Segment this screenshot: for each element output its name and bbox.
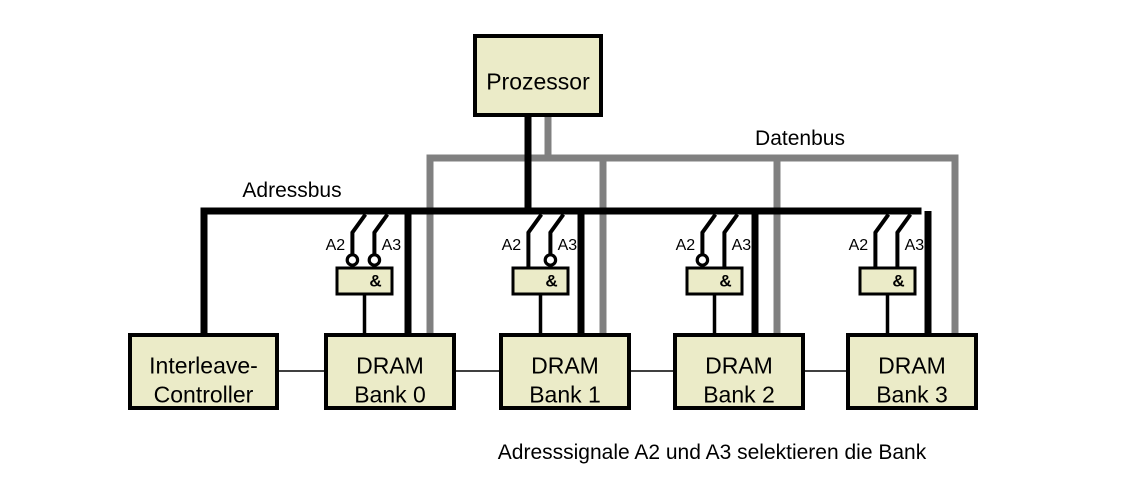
diagram-caption: Adresssignale A2 und A3 selektieren die … [498,441,927,464]
bank-select-logic-0: A2A3& [326,215,402,338]
bank-select-logic-1: A2A3& [502,215,578,338]
switch-a3-bank-3[interactable]: A3 [897,215,924,269]
switch-a2-bank-2[interactable]: A2 [676,215,716,266]
switch-a2-bank-0-lever [352,215,365,258]
dram-bank-box-2-label-line1: DRAM [705,353,773,379]
bank-layer: A2A3&A2A3&A2A3&A2A3& [326,215,925,338]
switch-a3-bank-0-terminal [369,255,379,265]
switch-a2-bank-2-lever [702,215,715,258]
processor-box-label: Prozessor [486,69,590,95]
switch-a3-bank-2-label: A3 [732,237,752,254]
bank-select-logic-2: A2A3& [676,215,752,338]
switch-a2-bank-0[interactable]: A2 [326,215,366,266]
interleave-controller-box: Interleave-Controller [130,335,277,408]
dram-bank-box-2: DRAMBank 2 [675,335,803,408]
interleave-controller-box-label-line1: Interleave- [149,353,258,379]
and-gate-bank-1 [513,268,568,294]
dram-bank-box-1-label-line1: DRAM [531,353,599,379]
dram-bank-box-1-label-line2: Bank 1 [529,382,601,408]
switch-a3-bank-2[interactable]: A3 [724,215,751,269]
switch-a2-bank-2-terminal [697,255,707,265]
dram-bank-box-2-label-line2: Bank 2 [703,382,775,408]
switch-a2-bank-2-label: A2 [676,237,696,254]
diagram-canvas: A2A3&A2A3&A2A3&A2A3& ProzessorInterleave… [0,0,1146,500]
and-gate-symbol-bank-3: & [892,272,904,291]
and-gate-bank-2 [687,268,742,294]
and-gate-symbol-bank-0: & [369,272,381,291]
switch-a2-bank-0-label: A2 [326,237,346,254]
switch-a2-bank-0-terminal [347,255,357,265]
switch-a2-bank-1-conductor [528,215,541,269]
switch-a2-bank-3-label: A2 [849,237,869,254]
bank-select-logic-3: A2A3& [849,215,925,338]
interleaving-diagram: A2A3&A2A3&A2A3&A2A3& ProzessorInterleave… [0,0,1146,500]
dram-bank-box-3-label-line1: DRAM [878,353,946,379]
switch-a2-bank-3[interactable]: A2 [849,215,889,269]
switch-a3-bank-1[interactable]: A3 [545,215,577,266]
address-bus-label: Adressbus [242,179,341,202]
switch-a2-bank-3-conductor [875,215,888,269]
and-gate-bank-0 [337,268,392,294]
switch-a3-bank-1-label: A3 [558,237,578,254]
interleave-controller-box-label-line2: Controller [154,382,254,408]
processor-box: Prozessor [475,36,601,115]
and-gate-symbol-bank-1: & [545,272,557,291]
switch-a2-bank-1-label: A2 [502,237,522,254]
dram-bank-box-0-label-line1: DRAM [356,353,424,379]
dram-bank-box-1: DRAMBank 1 [501,335,629,408]
and-gate-bank-3 [860,268,915,294]
dram-bank-box-3-label-line2: Bank 3 [876,382,948,408]
switch-a2-bank-1[interactable]: A2 [502,215,542,269]
switch-a3-bank-1-terminal [545,255,555,265]
switch-a3-bank-0[interactable]: A3 [369,215,401,266]
box-layer: ProzessorInterleave-ControllerDRAMBank 0… [130,36,976,408]
data-bus-label: Datenbus [755,127,845,150]
switch-a3-bank-3-label: A3 [905,237,925,254]
dram-bank-box-0: DRAMBank 0 [326,335,454,408]
dram-bank-box-3: DRAMBank 3 [848,335,976,408]
and-gate-symbol-bank-2: & [719,272,731,291]
dram-bank-box-0-label-line2: Bank 0 [354,382,426,408]
switch-a3-bank-0-label: A3 [382,237,402,254]
